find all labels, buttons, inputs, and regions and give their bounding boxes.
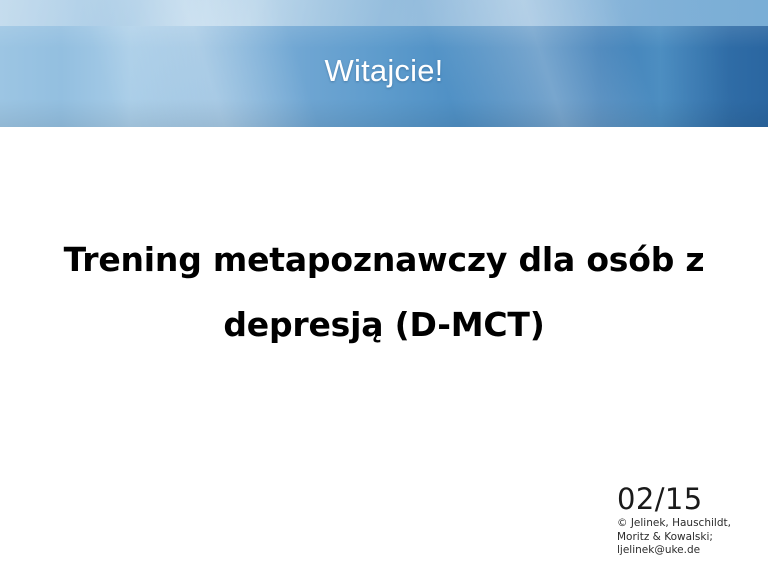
- credit-line-3: ljelinek@uke.de: [617, 544, 763, 558]
- header-banner: Witajcie!: [0, 0, 768, 127]
- credit-line-1: © Jelinek, Hauschildt,: [617, 517, 763, 531]
- credit-line-2: Moritz & Kowalski;: [617, 531, 763, 545]
- credits-block: © Jelinek, Hauschildt, Moritz & Kowalski…: [617, 517, 763, 558]
- page-number: 02/15: [617, 484, 763, 515]
- slide-header-title: Witajcie!: [0, 52, 768, 90]
- slide-footer: 02/15 © Jelinek, Hauschildt, Moritz & Ko…: [617, 484, 763, 558]
- banner-top-strip: [0, 0, 768, 26]
- main-heading-line-1: Trening metapoznawczy dla osób z: [40, 227, 728, 292]
- main-heading: Trening metapoznawczy dla osób z depresj…: [40, 227, 728, 357]
- presentation-slide: Witajcie! Trening metapoznawczy dla osób…: [0, 0, 768, 576]
- main-heading-line-2: depresją (D-MCT): [40, 292, 728, 357]
